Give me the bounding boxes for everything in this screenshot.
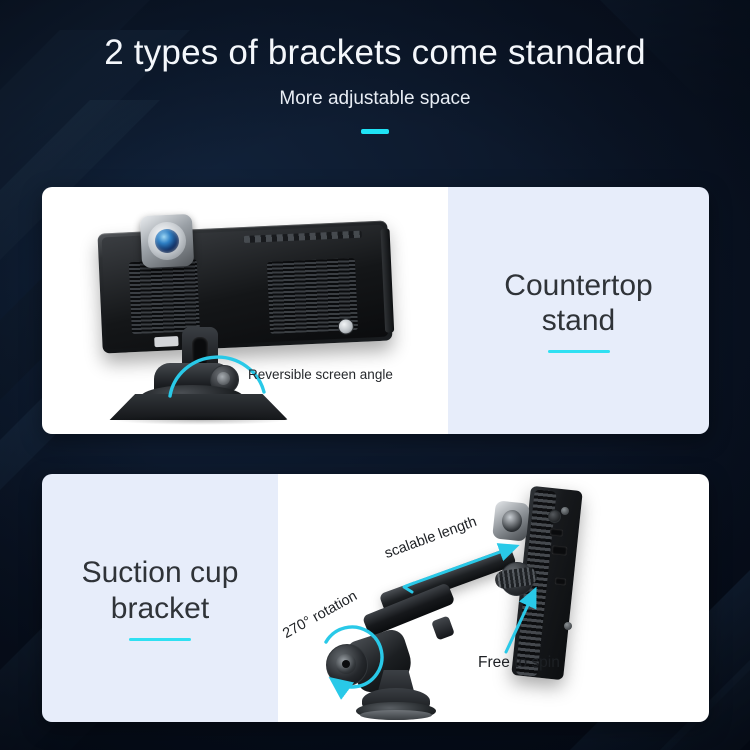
arm-joint-clamp — [431, 616, 455, 641]
header-divider — [361, 129, 389, 134]
card-label-underline-suction — [129, 638, 191, 641]
product-photo-countertop-stand: Reversible screen angle — [42, 187, 448, 434]
camera-lens — [154, 228, 179, 253]
infographic-canvas: 2 types of brackets come standard More a… — [0, 0, 750, 750]
product-photo-suction-bracket: 270° rotation scalable length Free to sp… — [278, 474, 709, 722]
stand-knob-center — [217, 372, 230, 385]
monitor-port-1 — [550, 528, 564, 536]
annotation-free-to-spin: Free to spin — [478, 654, 560, 672]
rotation-joint-center — [342, 660, 350, 668]
card-label-countertop: Countertop stand — [504, 268, 652, 339]
page-subtitle: More adjustable space — [0, 88, 750, 110]
annotation-270-rotation: 270° rotation — [280, 588, 360, 642]
card-label-panel-countertop: Countertop stand — [448, 187, 709, 434]
monitor-screw-bottom — [564, 622, 572, 630]
card-label-panel-suction: Suction cup bracket — [42, 474, 278, 722]
monitor-audio-jack — [548, 510, 561, 523]
card-label-suction: Suction cup bracket — [82, 555, 239, 626]
suction-cup-pad — [360, 710, 432, 720]
card-suction-cup-bracket: Suction cup bracket — [42, 474, 709, 722]
card-label-underline-countertop — [548, 350, 610, 353]
camera-module-icon — [140, 214, 194, 268]
annotation-scalable-length: scalable length — [383, 514, 479, 562]
monitor-port-3 — [555, 577, 567, 585]
stand-shadow — [112, 415, 288, 425]
page-title: 2 types of brackets come standard — [0, 34, 750, 73]
annotation-reversible-screen-angle: Reversible screen angle — [248, 367, 393, 382]
monitor-screw-top — [561, 507, 569, 515]
header: 2 types of brackets come standard More a… — [0, 0, 750, 134]
camera-ring — [147, 221, 187, 261]
monitor-port-2 — [552, 545, 568, 556]
monitor-label-tab — [154, 336, 178, 347]
monitor-vent-left — [129, 259, 200, 334]
card-countertop-stand: Reversible screen angle Countertop stand — [42, 187, 709, 434]
